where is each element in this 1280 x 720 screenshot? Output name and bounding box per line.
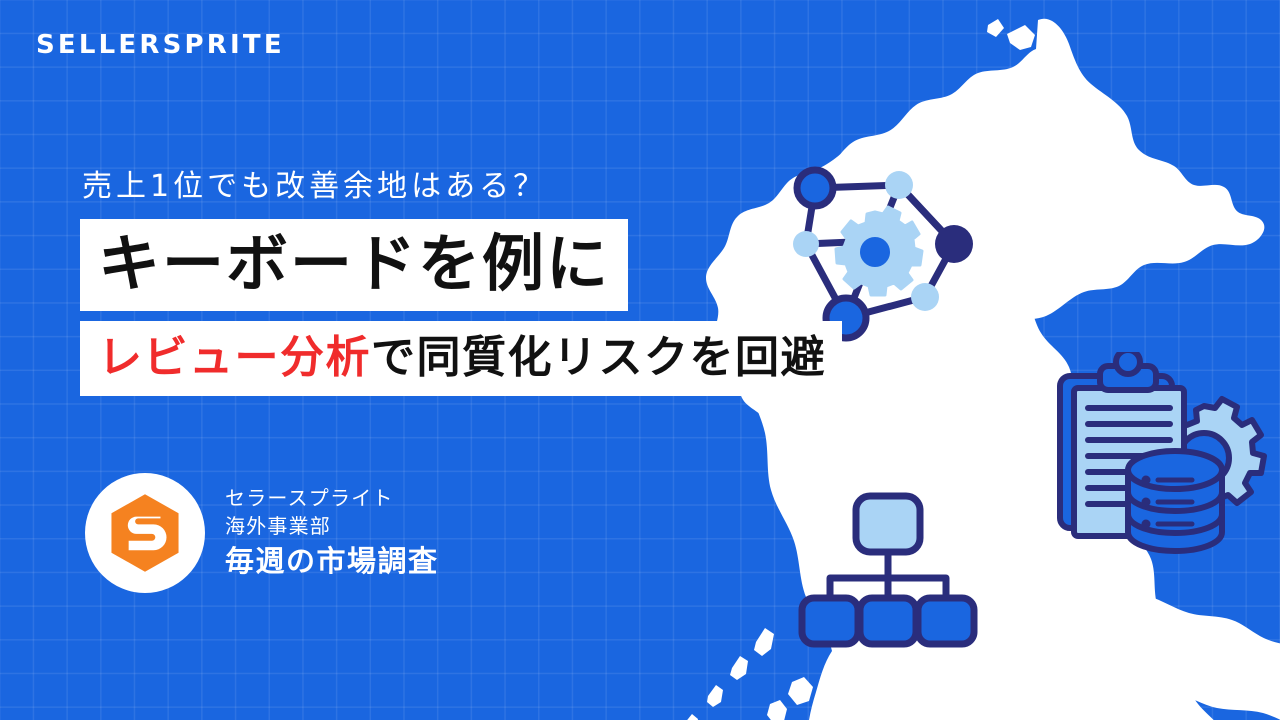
brand-wordmark: SELLERSPRITE <box>36 32 285 58</box>
headline-sub-accent: レビュー分析 <box>98 332 371 383</box>
org-chart-child-node <box>918 598 974 644</box>
signature-company: セラースプライト <box>225 484 439 512</box>
org-chart-child-node <box>860 598 916 644</box>
clipboard-database-gear-icon <box>1052 352 1274 558</box>
headline-main-band: キーボードを例に <box>80 219 628 311</box>
org-chart-child-node <box>802 598 858 644</box>
signature-department: 海外事業部 <box>225 512 439 540</box>
slide-canvas: SELLERSPRITE 売上1位でも改善余地はある？ キーボードを例に レビュ… <box>0 0 1280 720</box>
clipboard-page <box>1074 388 1184 536</box>
headline-sub-row: レビュー分析で同質化リスクを回避 <box>80 311 940 396</box>
headline-block: 売上1位でも改善余地はある？ キーボードを例に レビュー分析で同質化リスクを回避 <box>80 168 940 396</box>
headline-kicker: 売上1位でも改善余地はある？ <box>82 168 940 206</box>
avatar <box>85 473 205 593</box>
network-node <box>935 225 973 263</box>
database-cylinder <box>1128 451 1222 551</box>
org-chart-hierarchy-icon <box>792 486 984 652</box>
signature-block: セラースプライト 海外事業部 毎週の市場調査 <box>85 473 439 593</box>
signature-text: セラースプライト 海外事業部 毎週の市場調査 <box>225 484 439 583</box>
headline-sub-plain: で同質化リスクを回避 <box>371 332 826 383</box>
sellersprite-s-hexagon-logo <box>102 490 188 576</box>
signature-tagline: 毎週の市場調査 <box>225 543 439 580</box>
headline-main-row: キーボードを例に <box>80 219 940 311</box>
headline-sub-band: レビュー分析で同質化リスクを回避 <box>80 321 842 396</box>
org-chart-root-node <box>856 496 920 552</box>
